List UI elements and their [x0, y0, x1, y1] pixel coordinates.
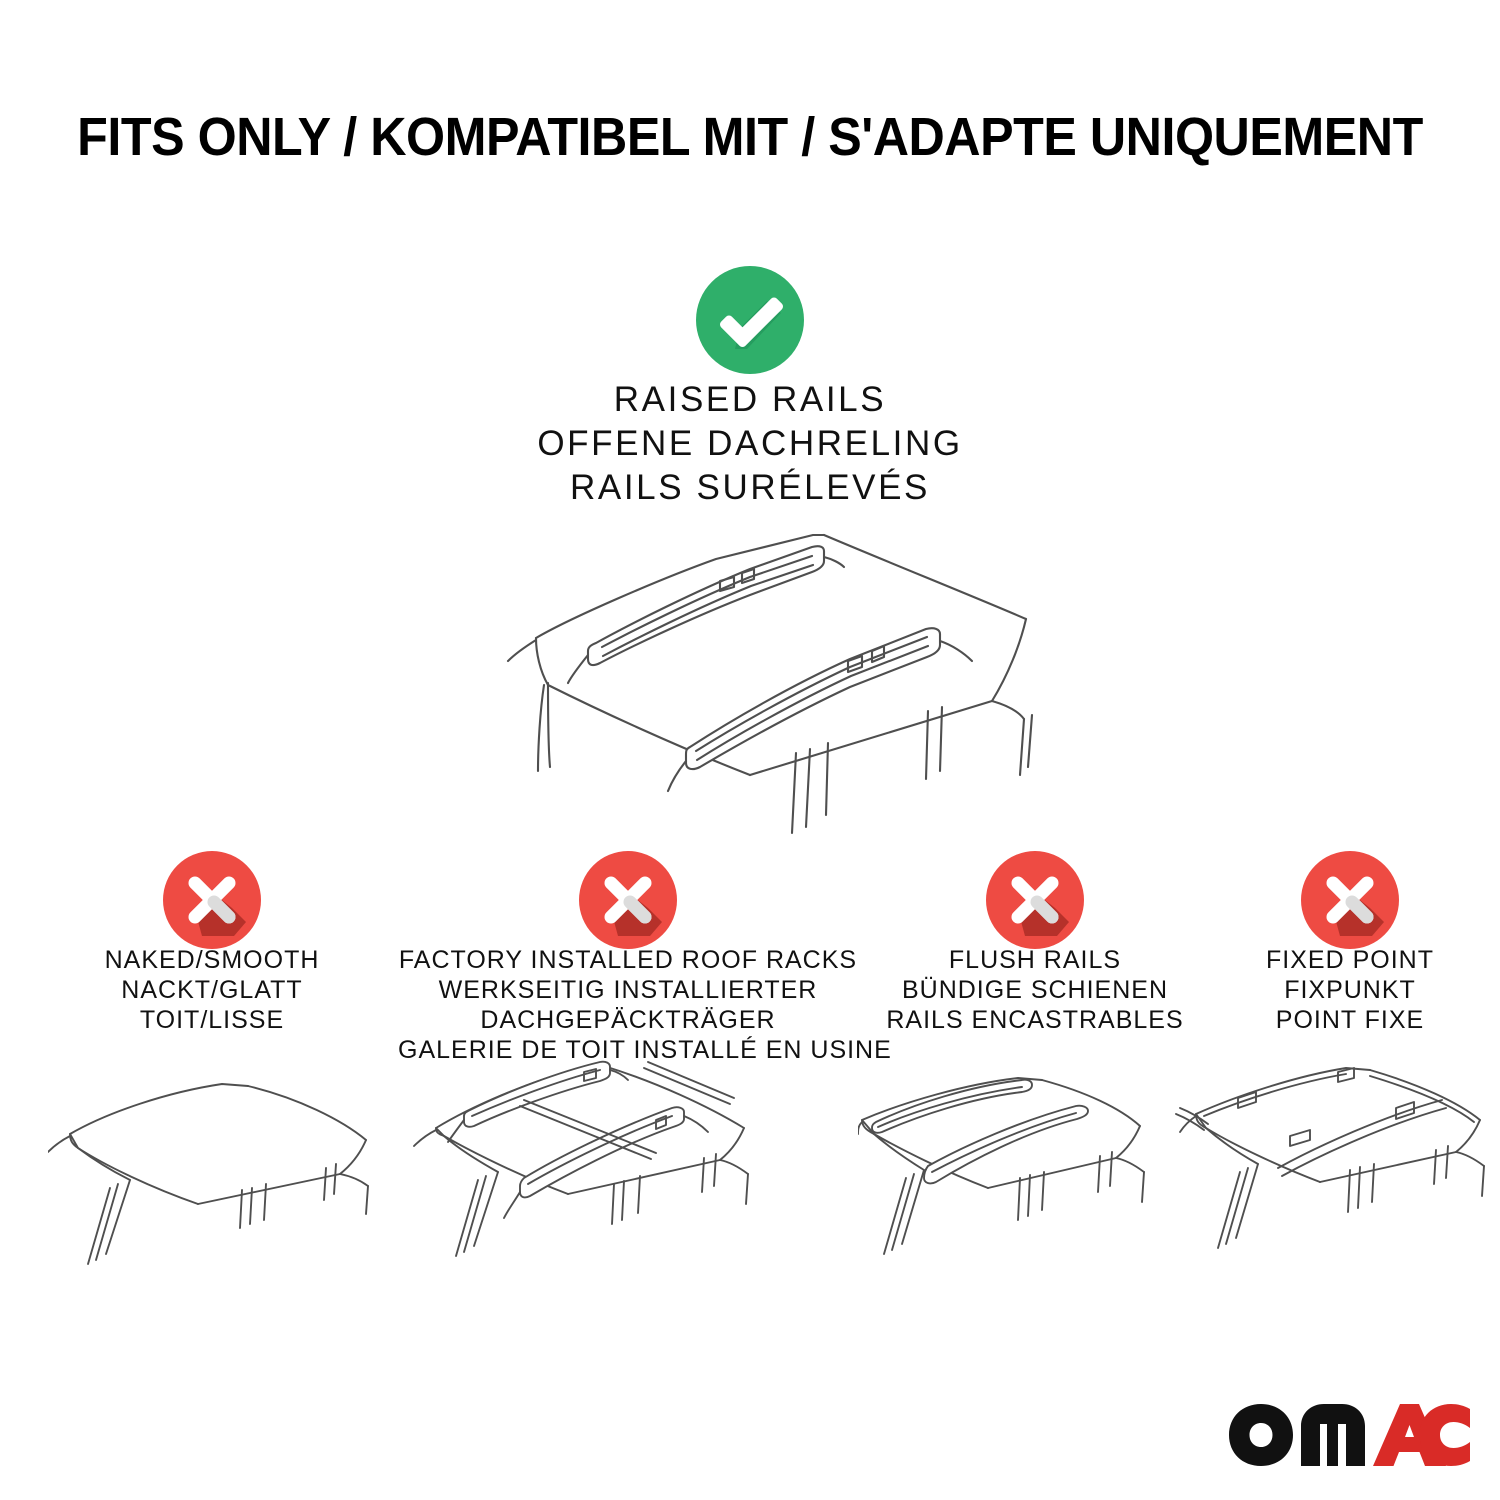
page-title: FITS ONLY / KOMPATIBEL MIT / S'ADAPTE UN… [53, 105, 1448, 169]
incompatible-label-line: WERKSEITIG INSTALLIERTER [398, 975, 858, 1005]
incompatible-label-group: FIXED POINT FIXPUNKT POINT FIXE [1215, 945, 1485, 1035]
incompatible-label-line: FLUSH RAILS [855, 945, 1215, 975]
incompatible-label-line: TOIT/LISSE [42, 1005, 382, 1035]
car-roof-fixed-point-illustration [1178, 1058, 1500, 1280]
incompatible-label-line: DACHGEPÄCKTRÄGER [398, 1005, 858, 1035]
compatible-label-line: RAISED RAILS [400, 378, 1100, 422]
omac-logo [1225, 1398, 1470, 1470]
car-roof-raised-rails-illustration [420, 515, 1120, 835]
compatible-label-line: RAILS SURÉLEVÉS [400, 466, 1100, 510]
x-circle-icon [578, 850, 678, 950]
incompatible-label-group: FLUSH RAILS BÜNDIGE SCHIENEN RAILS ENCAS… [855, 945, 1215, 1035]
incompatible-label-line: FIXED POINT [1215, 945, 1485, 975]
car-roof-naked-smooth-illustration [48, 1062, 398, 1282]
incompatible-label-line: NAKED/SMOOTH [42, 945, 382, 975]
incompatible-label-line: NACKT/GLATT [42, 975, 382, 1005]
incompatible-label-line: RAILS ENCASTRABLES [855, 1005, 1215, 1035]
incompatible-label-line: POINT FIXE [1215, 1005, 1485, 1035]
incompatible-label-group: NAKED/SMOOTH NACKT/GLATT TOIT/LISSE [42, 945, 382, 1035]
x-circle-icon [162, 850, 262, 950]
incompatible-label-line: FACTORY INSTALLED ROOF RACKS [398, 945, 858, 975]
compatible-label-line: OFFENE DACHRELING [400, 422, 1100, 466]
incompatible-label-group: FACTORY INSTALLED ROOF RACKS WERKSEITIG … [398, 945, 858, 1065]
x-circle-icon [1300, 850, 1400, 950]
incompatible-label-line: BÜNDIGE SCHIENEN [855, 975, 1215, 1005]
incompatible-label-line: FIXPUNKT [1215, 975, 1485, 1005]
x-circle-icon [985, 850, 1085, 950]
compatible-label-group: RAISED RAILS OFFENE DACHRELING RAILS SUR… [400, 378, 1100, 510]
car-roof-factory-roof-racks-illustration [408, 1058, 788, 1283]
check-circle-icon [695, 265, 805, 375]
car-roof-flush-rails-illustration [858, 1060, 1218, 1280]
